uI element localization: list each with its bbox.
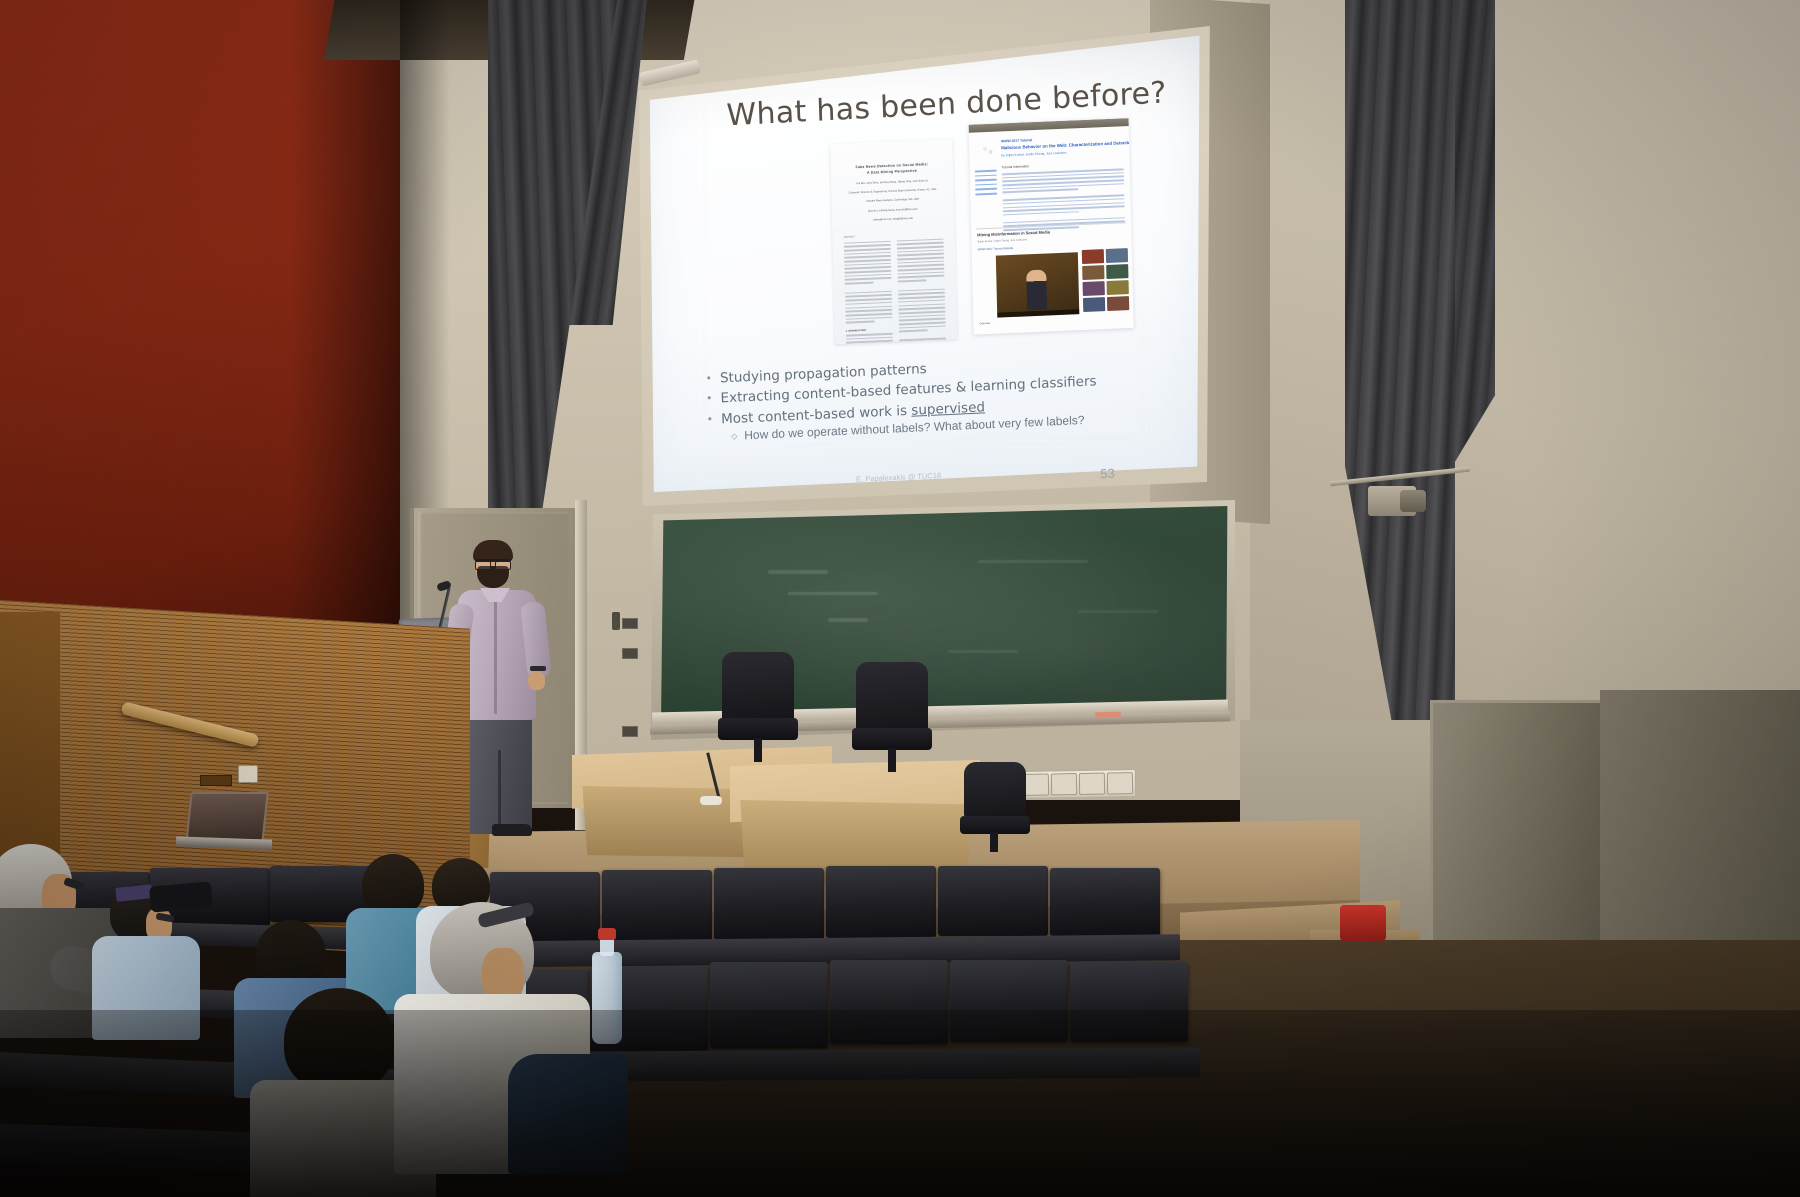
- presenter-wristwatch: [530, 666, 546, 671]
- web-eyebrow: WWW 2017 Tutorial: [1001, 138, 1032, 143]
- seat-back: [830, 960, 948, 1044]
- wall-speaker: [1400, 490, 1426, 512]
- audience-head: [362, 854, 424, 916]
- web-byline: by Srijan Kumar, Justin Cheng, Jure Lesk…: [1001, 151, 1066, 158]
- tutorial-webpage-thumbnail: WWW 2017 Tutorial Malicious Behavior on …: [969, 118, 1134, 335]
- paper-emails: {kai.shu, suhang.wang, huan.liu}@asu.edu: [846, 206, 940, 214]
- web-section-heading: Tutorial Information: [1002, 164, 1029, 169]
- video-caption: Overview: [979, 322, 990, 325]
- paper-columns: 1. INTRODUCTION: [844, 238, 948, 344]
- seat-back: [826, 866, 936, 938]
- slide-bullet-3-emphasis: supervised: [911, 399, 985, 418]
- paper-affiliation-1: Computer Science & Engineering, Arizona …: [845, 188, 939, 196]
- seat-back: [950, 960, 1068, 1042]
- seat-back: [1070, 962, 1188, 1042]
- slide-page-number: 53: [1100, 466, 1115, 482]
- web-sidebar-nav: [975, 170, 998, 198]
- paper-authors: Kai Shu, Amy Sliva, Suhang Wang, Jiliang…: [845, 178, 939, 186]
- paper-column-left: 1. INTRODUCTION: [844, 240, 895, 344]
- red-accent-wall: [0, 0, 410, 648]
- site-logo-icon: [976, 141, 998, 162]
- seat-back: [710, 962, 828, 1048]
- bullet-marker-icon: •: [706, 409, 713, 430]
- video-suggestions-list: [1082, 248, 1130, 312]
- table-microphone-base: [700, 796, 722, 805]
- presenter-hand-right: [528, 672, 545, 690]
- paper-column-right: [897, 238, 948, 344]
- seat-back: [1050, 868, 1160, 936]
- web-second-title: Mining Misinformation in Social Media: [977, 229, 1050, 237]
- office-chair-right: [852, 662, 932, 772]
- web-second-link[interactable]: WWW 2017 Tutorial Website: [978, 246, 1014, 251]
- slide-bullet-list: • Studying propagation patterns • Extrac…: [705, 349, 1147, 447]
- office-chair-left: [718, 652, 798, 762]
- wall-plate: [622, 726, 638, 737]
- door-handle[interactable]: [612, 612, 620, 630]
- web-second-byline: Srijan Kumar, Justin Cheng, Jure Leskove…: [977, 238, 1027, 243]
- video-player-thumbnail[interactable]: [996, 252, 1080, 317]
- bullet-marker-icon: •: [705, 369, 712, 390]
- wall-socket: [238, 765, 258, 783]
- audience-water-bottle: [592, 952, 622, 1044]
- bullet-marker-icon: •: [706, 389, 713, 410]
- chalk-stick: [1095, 712, 1121, 718]
- power-socket-strip: [1020, 769, 1136, 799]
- audience-water-bottle-cap: [598, 928, 616, 940]
- projected-slide: What has been done before? Fake News Det…: [629, 23, 1217, 509]
- browser-title-bar: [969, 118, 1129, 133]
- audience-bag: [149, 881, 213, 912]
- seat-back: [938, 866, 1048, 936]
- slide-footer: E. Papalexakis @ TUC18: [856, 471, 941, 484]
- audience-arm: [508, 1054, 628, 1174]
- seat-back: [602, 870, 712, 942]
- paper-affiliation-2: Charles River Analytics, Cambridge, MA, …: [846, 197, 940, 205]
- audience-head: [284, 988, 394, 1092]
- office-chair-far-right: [960, 762, 1030, 852]
- paper-email-2: asliva@cra.com, tangjili@msu.edu: [846, 216, 940, 224]
- audience-torso: [92, 936, 200, 1040]
- wall-plate: [622, 618, 638, 629]
- sub-bullet-marker-icon: ◇: [731, 429, 738, 446]
- emergency-light: [1340, 905, 1386, 941]
- seat-back: [714, 868, 824, 940]
- lecture-hall-photo: What has been done before? Fake News Det…: [0, 0, 1800, 1197]
- paper-abstract-heading: ABSTRACT: [843, 232, 943, 238]
- wall-name-plate: [200, 775, 232, 786]
- wall-plate: [622, 648, 638, 659]
- paper-thumbnail: Fake News Detection on Social Media: A D…: [830, 139, 957, 344]
- presenter-glasses-icon: [475, 559, 511, 568]
